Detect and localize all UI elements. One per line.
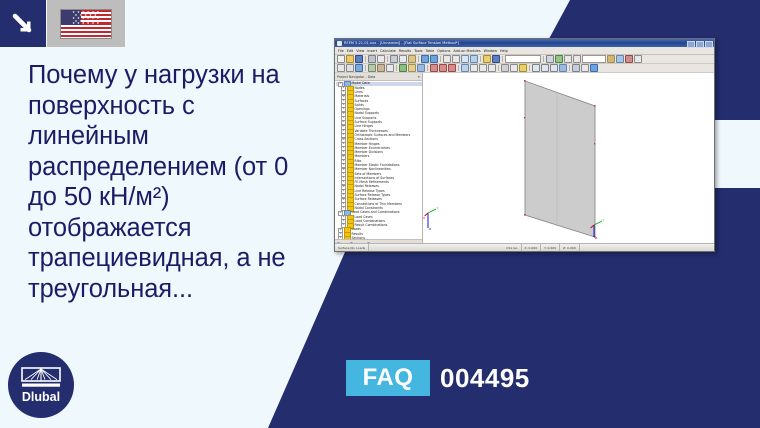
zoom-fit-icon[interactable] bbox=[461, 55, 469, 63]
svg-text:Z: Z bbox=[595, 236, 597, 240]
preview-icon[interactable] bbox=[377, 55, 385, 63]
rotate-icon[interactable] bbox=[479, 64, 487, 72]
folder-icon bbox=[344, 236, 351, 239]
save-icon[interactable] bbox=[355, 55, 363, 63]
faq-label: FAQ bbox=[363, 364, 414, 392]
status-segment-x: X: 0.000 bbox=[522, 244, 542, 251]
loadcase-select[interactable] bbox=[505, 55, 541, 63]
section-icon[interactable] bbox=[616, 55, 624, 63]
view-side-icon[interactable] bbox=[550, 64, 558, 72]
menu-item-options[interactable]: Options bbox=[437, 49, 450, 53]
svg-text:Y: Y bbox=[603, 218, 605, 222]
dlubal-truss-icon bbox=[21, 367, 61, 389]
status-segment-mode: Surface No. Loads bbox=[335, 244, 369, 251]
close-button[interactable] bbox=[705, 41, 713, 48]
view-top-icon[interactable] bbox=[541, 64, 549, 72]
dimension-icon[interactable] bbox=[501, 64, 509, 72]
status-segment-y: Y: 0.000 bbox=[541, 244, 560, 251]
dlubal-logo: Dlubal bbox=[8, 352, 74, 418]
copy-icon[interactable] bbox=[399, 55, 407, 63]
surface-icon[interactable] bbox=[368, 64, 376, 72]
menu-item-table[interactable]: Table bbox=[426, 49, 435, 53]
animate-icon[interactable] bbox=[634, 55, 642, 63]
rfem-screenshot-window[interactable]: RFEM 5.21.01.xxx - [Unnamed] - [Flat Sur… bbox=[334, 38, 715, 252]
navigator-header: Project Navigator - Data ✕ bbox=[335, 73, 422, 81]
menu-item-calculate[interactable]: Calculate bbox=[380, 49, 396, 53]
svg-text:X: X bbox=[423, 216, 425, 220]
tree-item[interactable]: +Sections bbox=[336, 237, 422, 239]
settings-icon[interactable] bbox=[572, 64, 580, 72]
text-icon[interactable] bbox=[510, 64, 518, 72]
navigator-close-icon[interactable]: ✕ bbox=[417, 75, 420, 79]
render-icon[interactable] bbox=[470, 55, 478, 63]
grid-icon[interactable] bbox=[564, 55, 572, 63]
dlubal-wordmark: Dlubal bbox=[22, 391, 60, 403]
help-icon[interactable] bbox=[492, 55, 500, 63]
support-icon[interactable] bbox=[399, 64, 407, 72]
navigator-tree[interactable]: +Model Data+Nodes+Lines+Materials+Surfac… bbox=[335, 81, 422, 239]
arrow-down-right-icon bbox=[10, 11, 36, 37]
layers-icon[interactable] bbox=[607, 55, 615, 63]
slide-canvas: ★ ★ ★ ★ ★ ★ ★ ★ ★ ★ ★ ★ ★ ★ ★ ★ ★ ★ ★ ★ … bbox=[0, 0, 760, 428]
work-area: Project Navigator - Data ✕ +Model Data+N… bbox=[335, 73, 714, 247]
opening-icon[interactable] bbox=[386, 64, 394, 72]
solid-icon[interactable] bbox=[377, 64, 385, 72]
menu-item-addons[interactable]: Add-on Modules bbox=[453, 49, 480, 53]
mirror-icon[interactable] bbox=[488, 64, 496, 72]
status-bar: Surface No. Loads CS1 Iso X: 0.000 Y: 0.… bbox=[335, 243, 714, 251]
menu-item-tools[interactable]: Tools bbox=[414, 49, 422, 53]
menu-item-results[interactable]: Results bbox=[399, 49, 411, 53]
zoom-out-icon[interactable] bbox=[452, 55, 460, 63]
page-title: Почему у нагрузки на поверхность с линей… bbox=[28, 60, 296, 304]
toolbar-primary[interactable] bbox=[335, 55, 714, 64]
menu-item-window[interactable]: Window bbox=[484, 49, 497, 53]
window-title: RFEM 5.21.01.xxx - [Unnamed] - [Flat Sur… bbox=[344, 41, 459, 45]
new-icon[interactable] bbox=[337, 55, 345, 63]
us-flag-icon: ★ ★ ★ ★ ★ ★ ★ ★ ★ ★ ★ ★ ★ ★ ★ ★ ★ ★ ★ ★ … bbox=[61, 10, 111, 38]
move-icon[interactable] bbox=[470, 64, 478, 72]
menu-item-insert[interactable]: Insert bbox=[367, 49, 377, 53]
info-icon[interactable] bbox=[590, 64, 598, 72]
toolbar-secondary[interactable] bbox=[335, 64, 714, 73]
model-3d-view: Y Z X Y Z bbox=[423, 73, 714, 240]
hinge-icon[interactable] bbox=[408, 64, 416, 72]
calculate-icon[interactable] bbox=[483, 55, 491, 63]
view-select[interactable] bbox=[582, 55, 606, 63]
tree-item-label: Sections bbox=[352, 237, 366, 239]
menu-item-edit[interactable]: Edit bbox=[347, 49, 354, 53]
svg-text:Y: Y bbox=[437, 206, 439, 210]
maximize-button[interactable] bbox=[696, 41, 704, 48]
cut-icon[interactable] bbox=[390, 55, 398, 63]
language-flag-button[interactable]: ★ ★ ★ ★ ★ ★ ★ ★ ★ ★ ★ ★ ★ ★ ★ ★ ★ ★ ★ ★ … bbox=[47, 0, 125, 47]
line-icon[interactable] bbox=[355, 64, 363, 72]
results-icon[interactable] bbox=[555, 55, 563, 63]
minimize-button[interactable] bbox=[687, 41, 695, 48]
member-icon[interactable] bbox=[417, 64, 425, 72]
mesh-icon[interactable] bbox=[461, 64, 469, 72]
display-icon[interactable] bbox=[546, 55, 554, 63]
navigator-title: Project Navigator - Data bbox=[337, 75, 375, 79]
select-icon[interactable] bbox=[337, 64, 345, 72]
language-switch-button[interactable] bbox=[0, 0, 46, 47]
app-icon bbox=[337, 41, 342, 46]
print-icon[interactable] bbox=[368, 55, 376, 63]
undo-icon[interactable] bbox=[421, 55, 429, 63]
paste-icon[interactable] bbox=[408, 55, 416, 63]
measure-icon[interactable] bbox=[519, 64, 527, 72]
status-segment-z: Z: 0.000 bbox=[560, 244, 580, 251]
line-load-icon[interactable] bbox=[439, 64, 447, 72]
redo-icon[interactable] bbox=[430, 55, 438, 63]
view-iso-icon[interactable] bbox=[559, 64, 567, 72]
menu-bar[interactable]: File Edit View Insert Calculate Results … bbox=[335, 47, 714, 55]
menu-item-view[interactable]: View bbox=[356, 49, 364, 53]
surface-load-icon[interactable] bbox=[448, 64, 456, 72]
zoom-in-icon[interactable] bbox=[443, 55, 451, 63]
surface-element bbox=[525, 81, 595, 237]
faq-number: 004495 bbox=[440, 360, 530, 396]
menu-item-help[interactable]: Help bbox=[500, 49, 508, 53]
window-titlebar: RFEM 5.21.01.xxx - [Unnamed] - [Flat Sur… bbox=[335, 39, 714, 47]
window-controls[interactable] bbox=[687, 41, 713, 48]
open-icon[interactable] bbox=[346, 55, 354, 63]
faq-badge: FAQ bbox=[346, 360, 430, 396]
svg-text:Z: Z bbox=[429, 227, 431, 231]
view-front-icon[interactable] bbox=[532, 64, 540, 72]
filter-icon[interactable] bbox=[581, 64, 589, 72]
model-viewport[interactable]: Y Z X Y Z bbox=[423, 73, 714, 247]
snap-icon[interactable] bbox=[573, 55, 581, 63]
nodal-load-icon[interactable] bbox=[430, 64, 438, 72]
status-segment-cs: CS1 Iso bbox=[503, 244, 521, 251]
project-navigator[interactable]: Project Navigator - Data ✕ +Model Data+N… bbox=[335, 73, 423, 247]
global-axis-indicator: Y Z X bbox=[423, 206, 439, 231]
node-icon[interactable] bbox=[346, 64, 354, 72]
menu-item-file[interactable]: File bbox=[338, 49, 344, 53]
tree-expander-icon[interactable]: + bbox=[338, 236, 343, 239]
deform-icon[interactable] bbox=[625, 55, 633, 63]
